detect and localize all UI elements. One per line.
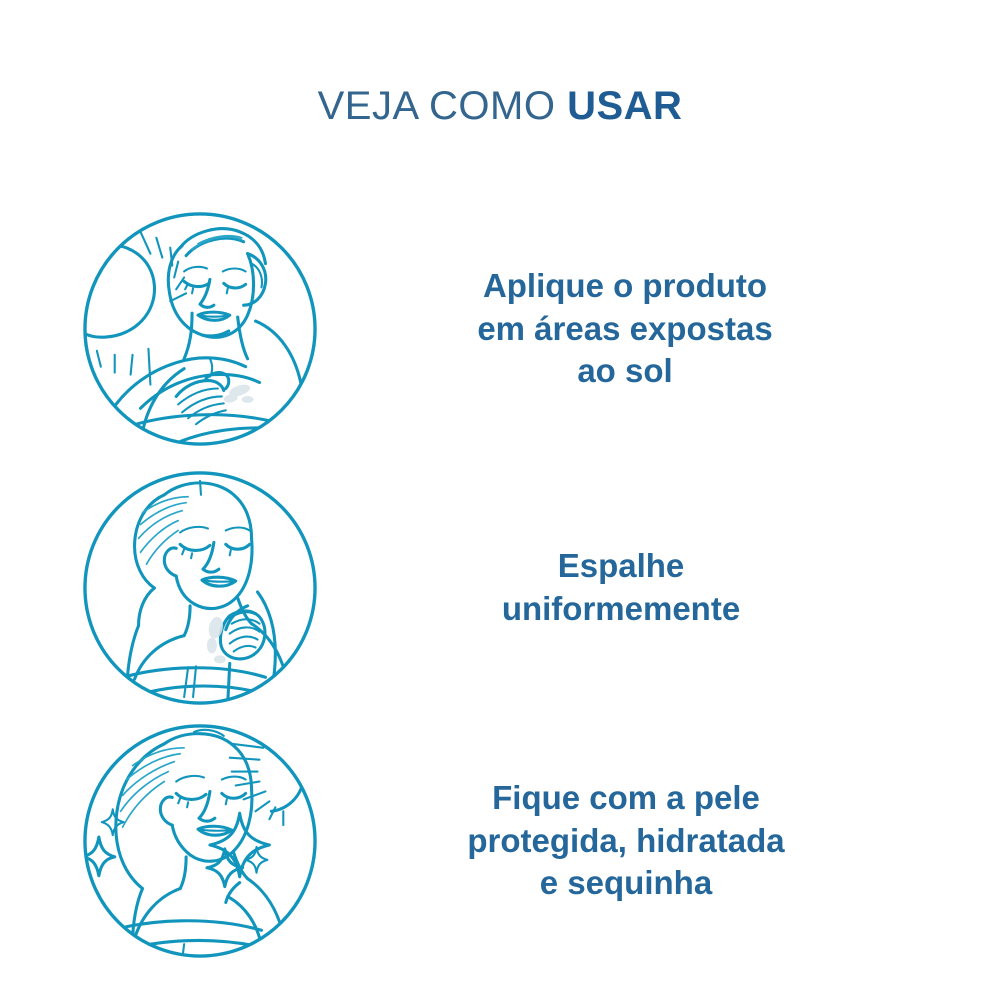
woman-with-protected-glowing-skin-icon bbox=[81, 722, 319, 960]
woman-applying-sunscreen-with-sun-icon bbox=[81, 210, 319, 448]
sparkle-tiny-left bbox=[102, 809, 124, 835]
step-3-icon-wrapper bbox=[0, 722, 400, 960]
step-3-text-wrapper: Fique com a pele protegida, hidratada e … bbox=[400, 777, 1000, 906]
page-title-regular: VEJA COMO bbox=[318, 84, 568, 128]
step-1-text-wrapper: Aplique o produto em áreas expostas ao s… bbox=[400, 265, 1000, 394]
step-1-text: Aplique o produto em áreas expostas ao s… bbox=[400, 265, 850, 394]
step-2-icon-wrapper bbox=[0, 469, 400, 707]
step-item-1: Aplique o produto em áreas expostas ao s… bbox=[0, 198, 1000, 460]
step-1-icon-wrapper bbox=[0, 210, 400, 448]
woman-spreading-cream-on-shoulder-icon bbox=[81, 469, 319, 707]
page-title-wrapper: VEJA COMO USAR bbox=[0, 84, 1000, 128]
page-title: VEJA COMO USAR bbox=[0, 84, 1000, 128]
steps-list: Aplique o produto em áreas expostas ao s… bbox=[0, 198, 1000, 966]
instructions-page: VEJA COMO USAR bbox=[0, 0, 1000, 1000]
page-title-bold: USAR bbox=[567, 84, 682, 128]
step-2-text-wrapper: Espalhe uniformemente bbox=[400, 545, 1000, 631]
sparkle-small bbox=[207, 849, 243, 887]
sparkle-tiny-right bbox=[246, 847, 268, 873]
step-2-text: Espalhe uniformemente bbox=[400, 545, 842, 631]
step-3-text: Fique com a pele protegida, hidratada e … bbox=[400, 777, 852, 906]
step-item-2: Espalhe uniformemente bbox=[0, 460, 1000, 716]
step-item-3: Fique com a pele protegida, hidratada e … bbox=[0, 716, 1000, 966]
